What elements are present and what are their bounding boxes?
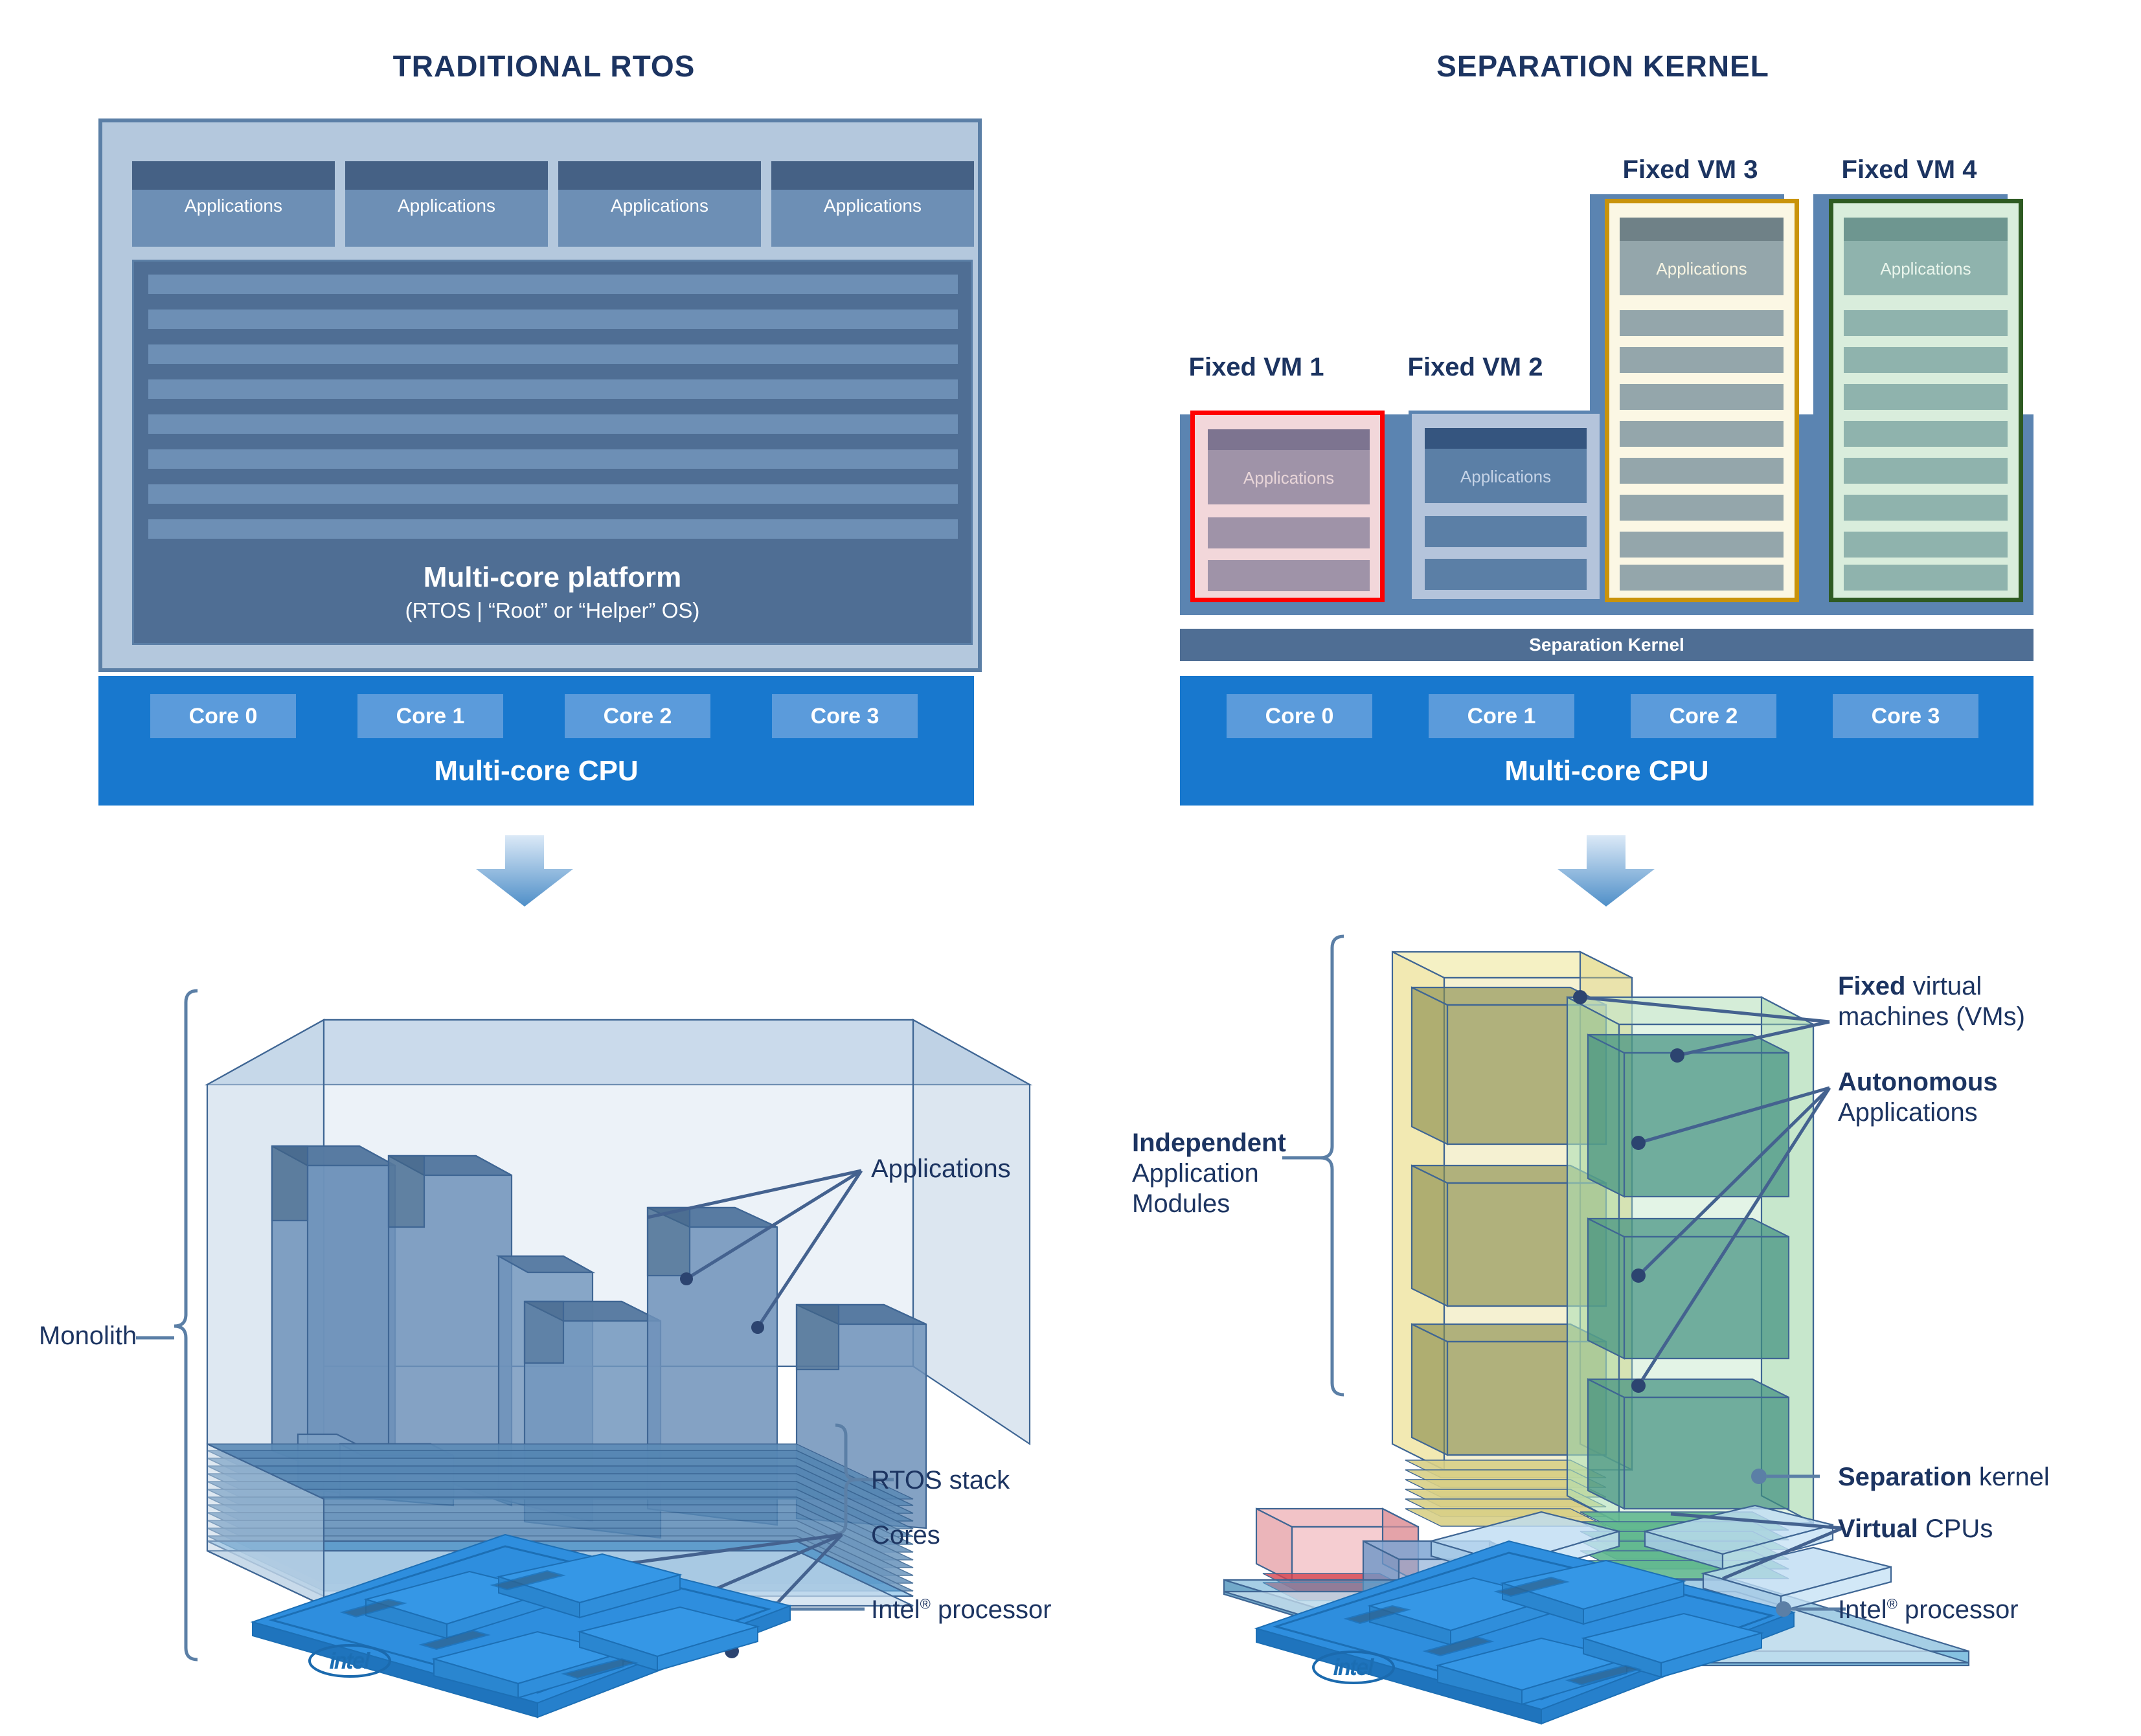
vm-app-body: Applications: [1425, 449, 1587, 503]
intel-label-prefix: Intel: [1838, 1595, 1887, 1624]
right-cpu-label: Multi-core CPU: [1180, 755, 2033, 787]
vm-row: [1844, 421, 2008, 447]
virtual-bold: Virtual: [1838, 1515, 1918, 1543]
platform-service-bar: [148, 519, 958, 539]
svg-text:intel: intel: [330, 1649, 370, 1673]
app-card: Applications: [132, 161, 335, 247]
platform-service-bar: [148, 344, 958, 364]
core-chip: Core 3: [1833, 694, 1978, 738]
platform-service-bar: [148, 310, 958, 329]
svg-text:intel: intel: [1334, 1655, 1374, 1679]
multicore-platform-box: Multi-core platform (RTOS | “Root” or “H…: [132, 260, 973, 645]
vm-row: [1844, 495, 2008, 521]
vm-row: [1425, 559, 1587, 590]
vm-row: [1620, 347, 1784, 373]
app-card-label: Applications: [345, 196, 548, 216]
core-chip: Core 0: [1227, 694, 1372, 738]
app-card: Applications: [771, 161, 974, 247]
core-chip: Core 0: [150, 694, 296, 738]
vm-app-body: Applications: [1208, 450, 1370, 504]
vm-row: [1844, 310, 2008, 336]
app-card-label: Applications: [558, 196, 761, 216]
vm-row: [1844, 565, 2008, 591]
app-card: Applications: [345, 161, 548, 247]
separation-bold: Separation: [1838, 1463, 1972, 1491]
vm-row: [1620, 532, 1784, 558]
platform-service-bar: [148, 414, 958, 434]
registered-icon: ®: [920, 1596, 931, 1612]
callout-cores-left: Cores: [871, 1520, 940, 1551]
core-chip: Core 1: [1429, 694, 1574, 738]
down-arrow-right: [1541, 835, 1671, 907]
traditional-rtos-panel: Applications Applications Applications A…: [98, 118, 982, 672]
fixed-vms-leader-lines: [1574, 991, 1833, 1094]
intel-label-prefix: Intel: [871, 1595, 920, 1624]
applications-leader-lines-left: [648, 1140, 907, 1463]
platform-title: Multi-core platform: [134, 561, 971, 594]
vm-app-label: Applications: [1620, 259, 1784, 279]
app-card: Applications: [558, 161, 761, 247]
vm-row: [1620, 310, 1784, 336]
callout-fixed-vms: Fixed virtual machines (VMs): [1838, 971, 2052, 1032]
app-card-label: Applications: [132, 196, 335, 216]
core-chip: Core 1: [357, 694, 503, 738]
platform-service-bar: [148, 379, 958, 399]
intel-label-suffix: processor: [931, 1595, 1052, 1624]
vm-app-header: [1425, 428, 1587, 449]
autonomous-rest: Applications: [1838, 1098, 1978, 1127]
vm-app-header: [1844, 218, 2008, 241]
app-card-label: Applications: [771, 196, 974, 216]
vm-row: [1844, 347, 2008, 373]
vm-row: [1620, 384, 1784, 410]
platform-service-bar: [148, 484, 958, 504]
vm-row: [1844, 532, 2008, 558]
callout-intel-processor-left: Intel® processor: [871, 1595, 1052, 1625]
virtual-rest: CPUs: [1918, 1515, 1993, 1543]
autonomous-apps-leader-lines: [1554, 1088, 1833, 1450]
vm-label-2: Fixed VM 2: [1391, 353, 1559, 382]
platform-subtitle: (RTOS | “Root” or “Helper” OS): [134, 598, 971, 623]
down-arrow-left: [460, 835, 589, 907]
callout-applications-left: Applications: [871, 1154, 1011, 1184]
intel-processor-board-left: intel: [227, 1509, 810, 1722]
vm-row: [1844, 458, 2008, 484]
vm-row: [1620, 565, 1784, 591]
vm-row: [1620, 495, 1784, 521]
vm-app-body: Applications: [1620, 241, 1784, 295]
core-chip: Core 3: [772, 694, 918, 738]
fixed-bold: Fixed: [1838, 972, 1905, 1000]
core-chip: Core 2: [565, 694, 710, 738]
vm-column-4: Applications: [1829, 199, 2023, 602]
right-multicore-cpu-band: Core 0 Core 1 Core 2 Core 3 Multi-core C…: [1180, 676, 2033, 806]
vm-label-3: Fixed VM 3: [1606, 155, 1774, 185]
virtual-cpus-leader-right: [1664, 1509, 1846, 1593]
left-cpu-label: Multi-core CPU: [98, 755, 974, 787]
vm-row: [1425, 516, 1587, 547]
separation-kernel-band: Separation Kernel: [1180, 629, 2033, 661]
vm-row: [1620, 458, 1784, 484]
platform-service-bar: [148, 449, 958, 469]
vm-row: [1844, 384, 2008, 410]
app-card-header: [558, 161, 761, 190]
app-card-header: [132, 161, 335, 190]
vm-app-header: [1620, 218, 1784, 241]
callout-separation-kernel: Separation kernel: [1838, 1462, 2050, 1493]
page-title-traditional-rtos: TRADITIONAL RTOS: [97, 49, 991, 84]
intel-label-suffix: processor: [1897, 1595, 2019, 1624]
callout-virtual-cpus: Virtual CPUs: [1838, 1514, 1993, 1544]
callout-autonomous-applications: Autonomous Applications: [1838, 1067, 2052, 1128]
vm-column-3: Applications: [1605, 199, 1799, 602]
vm-label-4: Fixed VM 4: [1825, 155, 1993, 185]
callout-monolith: Monolith: [39, 1321, 137, 1351]
platform-service-bar: [148, 275, 958, 294]
vm-column-2: Applications: [1409, 411, 1603, 602]
vm-app-label: Applications: [1208, 468, 1370, 488]
page-title-separation-kernel: SEPARATION KERNEL: [1172, 49, 2033, 84]
callout-rtos-stack: RTOS stack: [871, 1465, 1010, 1496]
vm-app-body: Applications: [1844, 241, 2008, 295]
vm-column-1: Applications: [1190, 411, 1385, 602]
vm-row: [1620, 421, 1784, 447]
vm-app-label: Applications: [1425, 467, 1587, 487]
separation-kernel-leader-right: [1749, 1463, 1839, 1489]
vm-row: [1208, 517, 1370, 548]
core-chip: Core 2: [1631, 694, 1776, 738]
vm-label-1: Fixed VM 1: [1172, 353, 1341, 382]
vm-row: [1208, 560, 1370, 591]
callout-intel-processor-right: Intel® processor: [1838, 1595, 2019, 1625]
app-card-header: [345, 161, 548, 190]
separation-rest: kernel: [1972, 1463, 2050, 1491]
vm-app-label: Applications: [1844, 259, 2008, 279]
registered-icon: ®: [1887, 1596, 1897, 1612]
app-card-header: [771, 161, 974, 190]
autonomous-bold: Autonomous: [1838, 1068, 1998, 1096]
vm-app-header: [1208, 429, 1370, 450]
left-multicore-cpu-band: Core 0 Core 1 Core 2 Core 3 Multi-core C…: [98, 676, 974, 806]
